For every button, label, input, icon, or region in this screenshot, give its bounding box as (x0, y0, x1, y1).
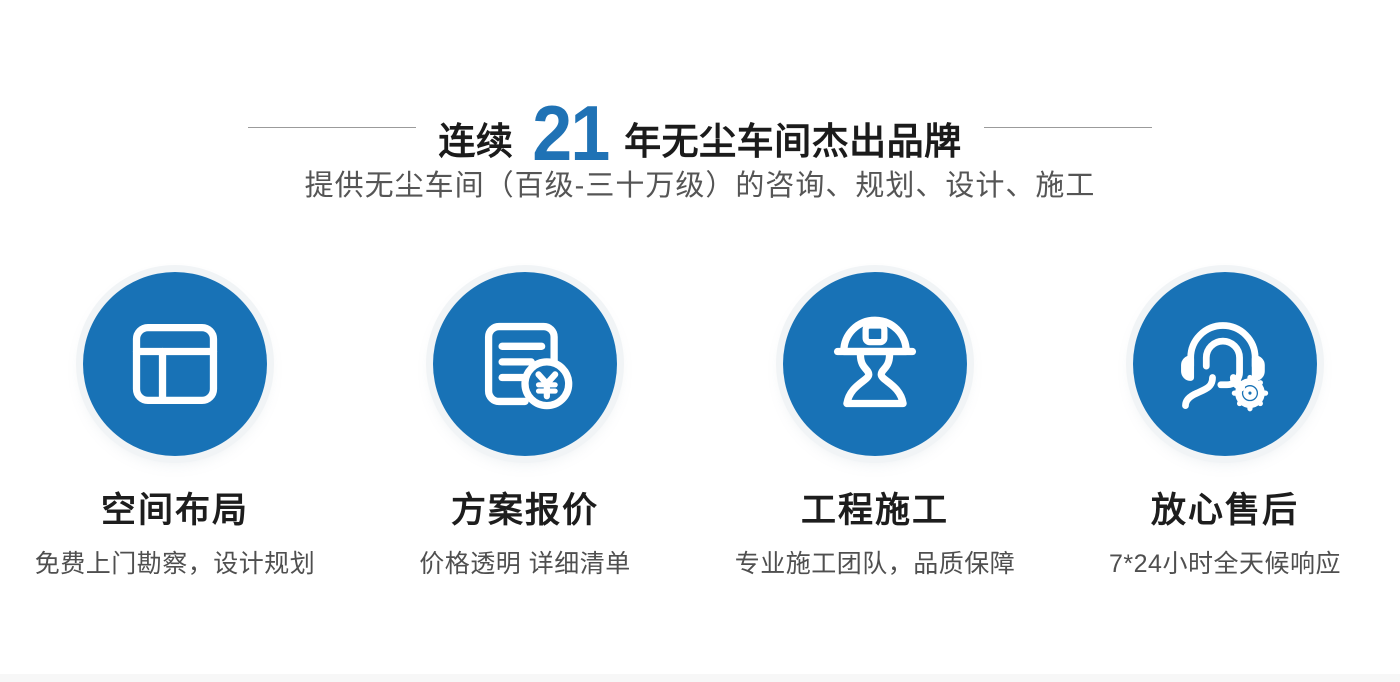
feature-icon-circle (1133, 272, 1317, 456)
feature-item-construction[interactable]: 工程施工 专业施工团队，品质保障 (700, 272, 1050, 579)
feature-description: 专业施工团队，品质保障 (735, 549, 1016, 579)
feature-list: 空间布局 免费上门勘察，设计规划 方案报价 价格透明 详细清单 (0, 272, 1400, 579)
feature-item-quotation[interactable]: 方案报价 价格透明 详细清单 (350, 272, 700, 579)
feature-description: 免费上门勘察，设计规划 (35, 549, 316, 579)
feature-title: 方案报价 (451, 492, 599, 531)
bottom-divider-band (0, 674, 1400, 682)
feature-title: 空间布局 (101, 492, 249, 531)
feature-icon-circle (433, 272, 617, 456)
document-yen-quote-icon (473, 312, 577, 416)
headline-rule-left (248, 127, 416, 128)
feature-icon-circle (83, 272, 267, 456)
headline-suffix: 年无尘车间杰出品牌 (624, 123, 962, 160)
feature-icon-circle (783, 272, 967, 456)
construction-worker-helmet-icon (823, 312, 927, 416)
feature-item-space-layout[interactable]: 空间布局 免费上门勘察，设计规划 (0, 272, 350, 579)
headline-rule-right (984, 127, 1152, 128)
feature-description: 价格透明 详细清单 (419, 549, 630, 579)
banner-subtitle: 提供无尘车间（百级-三十万级）的咨询、规划、设计、施工 (0, 162, 1400, 204)
feature-title: 工程施工 (801, 492, 949, 531)
feature-description: 7*24小时全天候响应 (1109, 549, 1341, 579)
headline-prefix: 连续 (438, 123, 513, 160)
floor-plan-layout-icon (123, 312, 227, 416)
page-title: 连续 21 年无尘车间杰出品牌 (438, 88, 961, 166)
banner-headline-row: 连续 21 年无尘车间杰出品牌 (0, 88, 1400, 166)
headline-years-number: 21 (533, 94, 609, 172)
feature-item-after-sales[interactable]: 放心售后 7*24小时全天候响应 (1050, 272, 1400, 579)
feature-title: 放心售后 (1151, 492, 1299, 531)
headset-support-gear-icon (1173, 312, 1277, 416)
